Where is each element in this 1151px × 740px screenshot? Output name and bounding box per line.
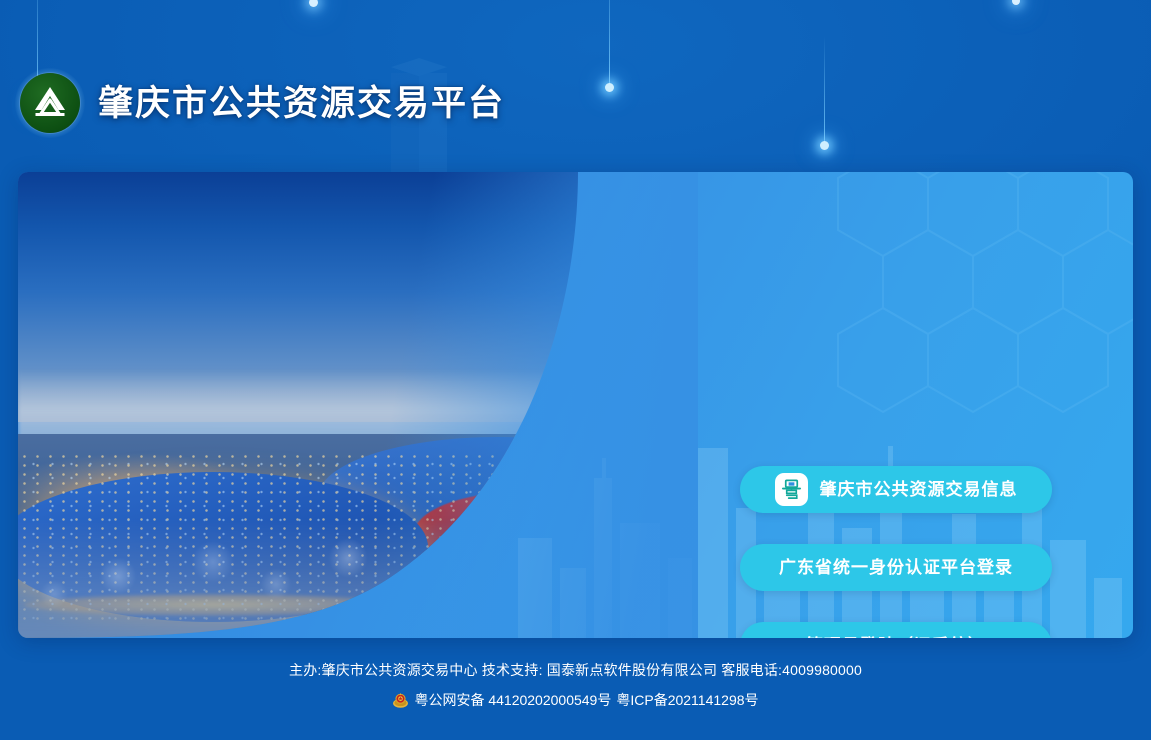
- brand: 肇庆市公共资源交易平台: [20, 73, 505, 133]
- trade-info-button[interactable]: 肇庆市公共资源交易信息: [740, 466, 1052, 513]
- police-record-number[interactable]: 粤公网安备 44120202000549号: [414, 690, 611, 712]
- site-logo: [20, 73, 80, 133]
- page-header: 肇庆市公共资源交易平台: [0, 0, 1151, 172]
- button-label: 管理员登陆（旧系统）: [806, 637, 986, 638]
- admin-login-old-button[interactable]: 管理员登陆（旧系统）: [740, 622, 1052, 638]
- police-badge-icon: [392, 692, 409, 709]
- login-action-list: 肇庆市公共资源交易信息 广东省统一身份认证平台登录 管理员登陆（旧系统） 管理员…: [740, 466, 1052, 638]
- yue-guangdong-icon: [775, 473, 808, 506]
- hero-photo: [18, 172, 668, 638]
- page-title: 肇庆市公共资源交易平台: [98, 86, 505, 121]
- button-label: 广东省统一身份认证平台登录: [779, 559, 1013, 576]
- hexagon-pattern-icon: [823, 172, 1133, 432]
- footer-record-line: 粤公网安备 44120202000549号 粤ICP备2021141298号: [0, 690, 1151, 712]
- login-page: 肇庆市公共资源交易平台: [0, 0, 1151, 740]
- zhaoqing-public-resources-emblem-icon: [20, 73, 80, 133]
- main-panel: 肇庆市公共资源交易信息 广东省统一身份认证平台登录 管理员登陆（旧系统） 管理员…: [18, 172, 1133, 638]
- guangdong-sso-login-button[interactable]: 广东省统一身份认证平台登录: [740, 544, 1052, 591]
- footer-organizer-line: 主办:肇庆市公共资源交易中心 技术支持: 国泰新点软件股份有限公司 客服电话:4…: [0, 660, 1151, 682]
- photo-bokeh-circles: [18, 518, 668, 638]
- icp-record-number[interactable]: 粤ICP备2021141298号: [616, 690, 758, 712]
- page-footer: 主办:肇庆市公共资源交易中心 技术支持: 国泰新点软件股份有限公司 客服电话:4…: [0, 660, 1151, 711]
- button-label: 肇庆市公共资源交易信息: [820, 481, 1018, 498]
